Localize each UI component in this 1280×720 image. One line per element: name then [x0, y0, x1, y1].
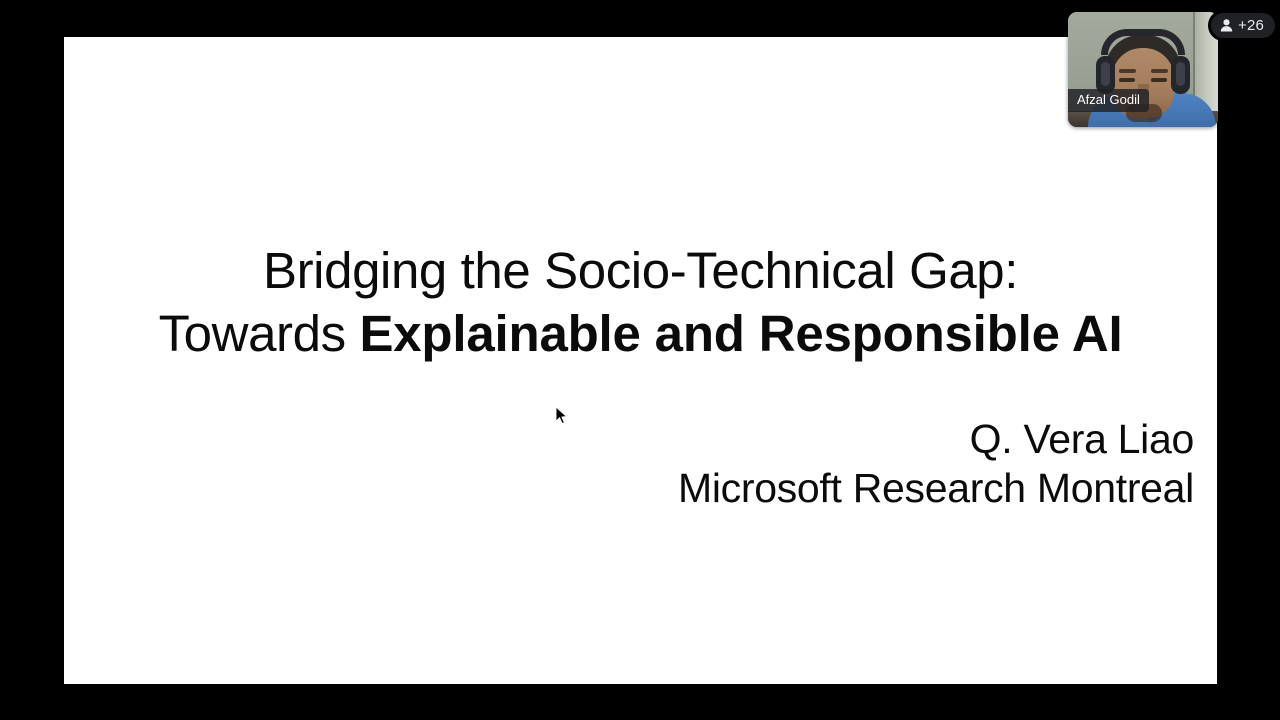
- participant-eyebrow-right: [1151, 69, 1168, 73]
- slide-title-line-2-emphasis: Explainable and Responsible AI: [359, 305, 1122, 362]
- slide-title-line-1: Bridging the Socio-Technical Gap:: [64, 245, 1217, 297]
- person-icon: [1219, 18, 1234, 33]
- participant-video-tile[interactable]: Afzal Godil: [1068, 12, 1218, 127]
- participant-eye-left: [1119, 78, 1135, 82]
- author-name: Q. Vera Liao: [678, 418, 1194, 461]
- headphone-pad-right: [1176, 62, 1185, 86]
- presentation-stage: Bridging the Socio-Technical Gap: Toward…: [0, 0, 1280, 720]
- headphone-headband: [1101, 29, 1185, 55]
- participant-eyebrow-left: [1119, 69, 1136, 73]
- slide-title-line-2-prefix: Towards: [159, 305, 360, 362]
- slide-title-line-2: Towards Explainable and Responsible AI: [64, 308, 1217, 360]
- participant-count-label: +26: [1238, 18, 1264, 33]
- participant-count-badge[interactable]: +26: [1208, 10, 1278, 41]
- shared-slide[interactable]: Bridging the Socio-Technical Gap: Toward…: [64, 37, 1217, 684]
- headphone-pad-left: [1101, 62, 1110, 86]
- slide-title-block: Bridging the Socio-Technical Gap: Toward…: [64, 245, 1217, 360]
- participant-name-label: Afzal Godil: [1068, 89, 1149, 112]
- slide-author-block: Q. Vera Liao Microsoft Research Montreal: [678, 418, 1194, 511]
- participant-eye-right: [1151, 78, 1167, 82]
- author-affiliation: Microsoft Research Montreal: [678, 467, 1194, 510]
